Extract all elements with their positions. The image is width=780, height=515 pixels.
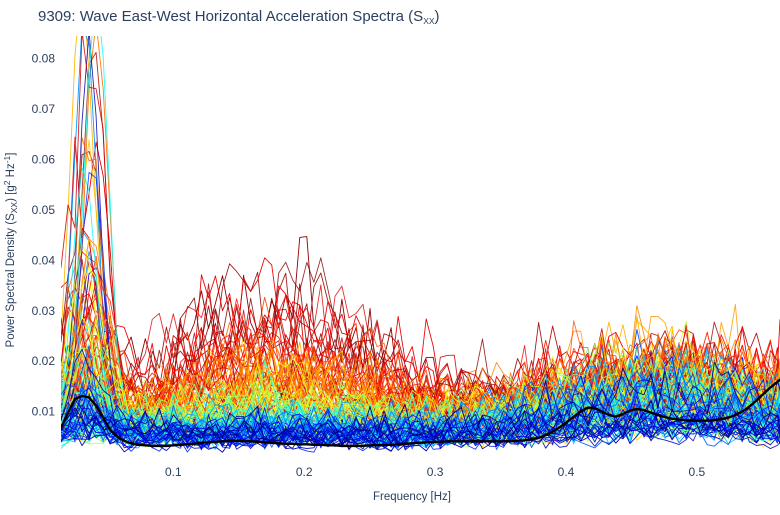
spectra-chart-figure: 9309: Wave East-West Horizontal Accelera…: [0, 0, 780, 515]
y-tick-label: 0.03: [32, 304, 56, 318]
y-tick-label: 0.08: [32, 52, 56, 66]
x-axis-title: Frequency [Hz]: [373, 491, 451, 503]
x-tick-label: 0.1: [165, 465, 182, 479]
y-tick-label: 0.04: [32, 253, 56, 267]
x-tick-label: 0.5: [689, 465, 706, 479]
y-tick-label: 0.02: [32, 354, 56, 368]
y-tick-label: 0.06: [32, 153, 56, 167]
y-tick-label: 0.07: [32, 102, 56, 116]
x-tick-label: 0.3: [427, 465, 444, 479]
x-tick-label: 0.4: [558, 465, 575, 479]
y-tick-label: 0.01: [32, 405, 56, 419]
x-tick-label: 0.2: [296, 465, 313, 479]
chart-title: 9309: Wave East-West Horizontal Accelera…: [38, 8, 440, 26]
y-tick-label: 0.05: [32, 203, 56, 217]
